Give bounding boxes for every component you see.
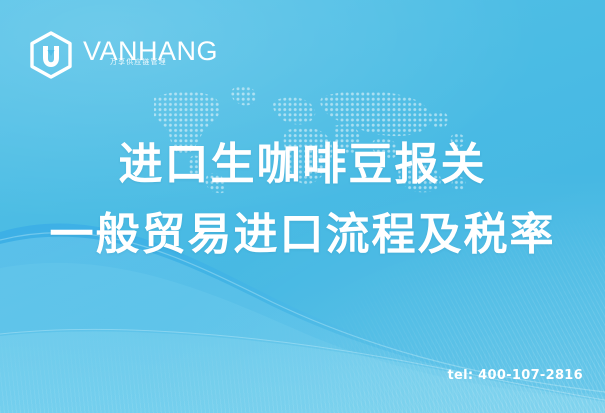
brand-wordmark-group: VANHANG 万享供应链管理 — [83, 34, 218, 76]
brand-subtitle: 万享供应链管理 — [110, 57, 167, 67]
headline-line-1: 进口生咖啡豆报关 — [0, 136, 605, 194]
promo-banner: VANHANG 万享供应链管理 进口生咖啡豆报关 一般贸易进口流程及税率 tel… — [0, 0, 605, 413]
brand-logo: VANHANG 万享供应链管理 — [28, 30, 218, 80]
hexagon-u-logo-icon — [28, 31, 74, 79]
contact-phone: tel: 400-107-2816 — [447, 368, 583, 383]
headline-line-2: 一般贸易进口流程及税率 — [0, 206, 605, 264]
page-title: 进口生咖啡豆报关 一般贸易进口流程及税率 — [0, 136, 605, 264]
